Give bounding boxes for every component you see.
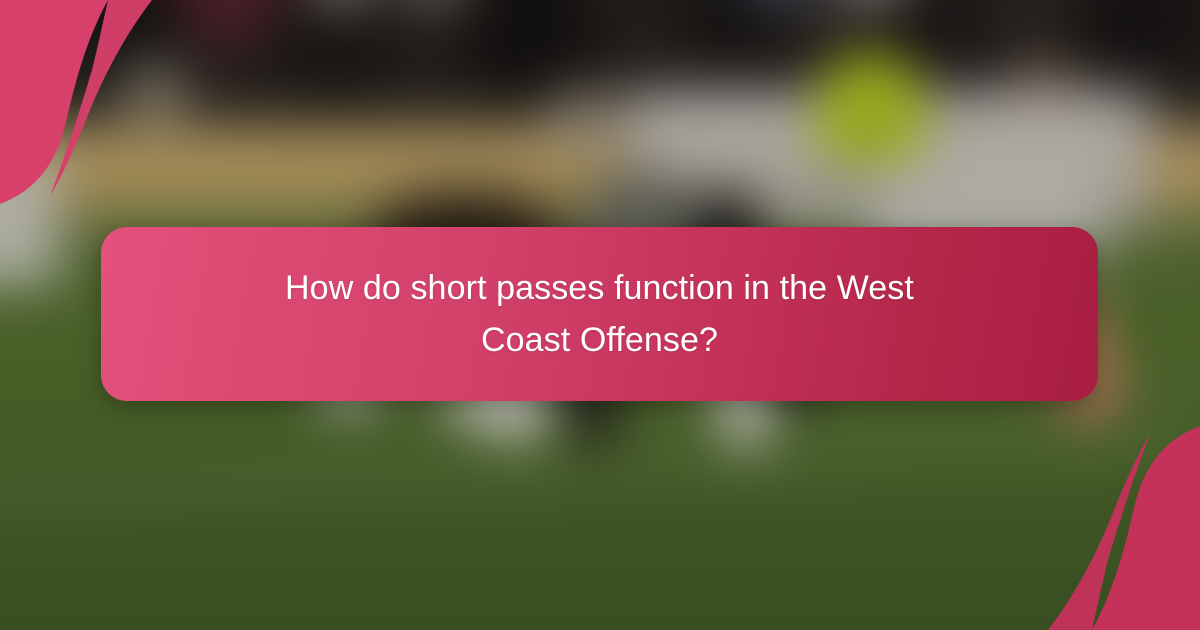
screenshot-canvas: How do short passes function in the West… (0, 0, 1200, 630)
question-text: How do short passes function in the West… (240, 262, 960, 366)
top-left-corner-swoosh (0, 0, 260, 230)
bottom-right-corner-swoosh (940, 400, 1200, 630)
question-card: How do short passes function in the West… (101, 227, 1098, 401)
